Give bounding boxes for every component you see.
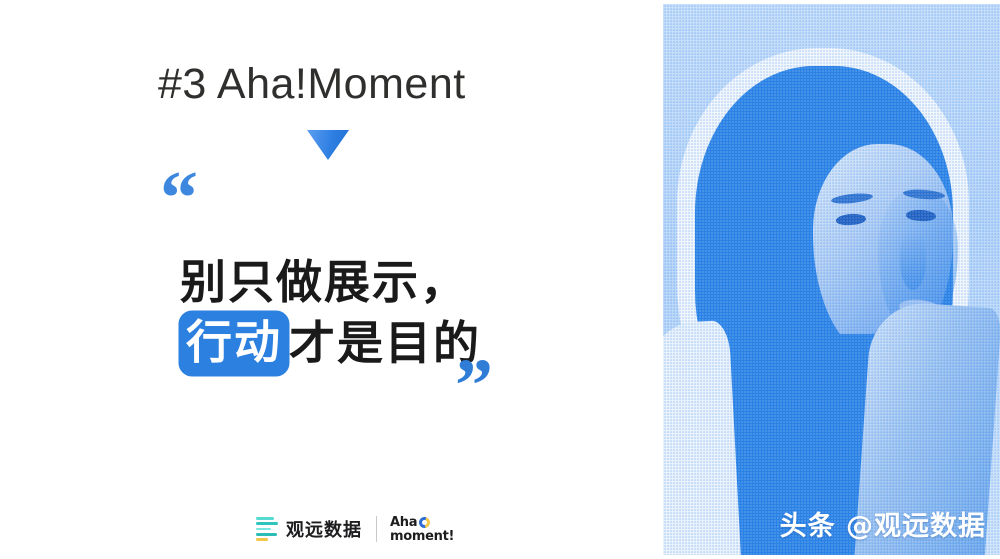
down-triangle-icon <box>307 130 349 160</box>
portrait-photo: 头条 @观远数据 <box>663 4 1000 555</box>
aha-logo-line-2: moment! <box>390 529 454 544</box>
quote-close-mark: ” <box>455 348 491 424</box>
slide-canvas: #3 Aha!Moment “ 别只做展示， 行动才是目的 ” 观远数据 Aha… <box>0 0 1000 559</box>
nose-shading <box>900 232 926 290</box>
quote-open-mark: “ <box>160 160 196 236</box>
left-content-pane: #3 Aha!Moment “ 别只做展示， 行动才是目的 ” 观远数据 Aha… <box>0 0 660 559</box>
logo-divider <box>376 516 377 542</box>
portrait-artwork <box>663 4 1000 555</box>
quote-line-2-rest: 才是目的 <box>289 314 481 373</box>
page-title: #3 Aha!Moment <box>158 60 466 109</box>
watermark-text: 头条 @观远数据 <box>780 504 986 543</box>
quote-line-1: 别只做展示， <box>180 253 600 312</box>
aha-logo-line-1: Aha <box>390 516 417 529</box>
stacked-bars-icon <box>256 517 278 541</box>
quote-highlight-badge: 行动 <box>180 312 288 375</box>
quote-block: 别只做展示， 行动才是目的 <box>180 253 600 375</box>
aha-dot-icon <box>419 517 430 528</box>
brand-name-cn: 观远数据 <box>286 516 362 542</box>
shoulder-highlight <box>663 320 741 555</box>
footer-logo-lockup: 观远数据 Aha moment! <box>256 511 454 547</box>
aha-moment-logo: Aha moment! <box>390 516 454 543</box>
quote-line-2: 行动才是目的 <box>180 312 600 375</box>
